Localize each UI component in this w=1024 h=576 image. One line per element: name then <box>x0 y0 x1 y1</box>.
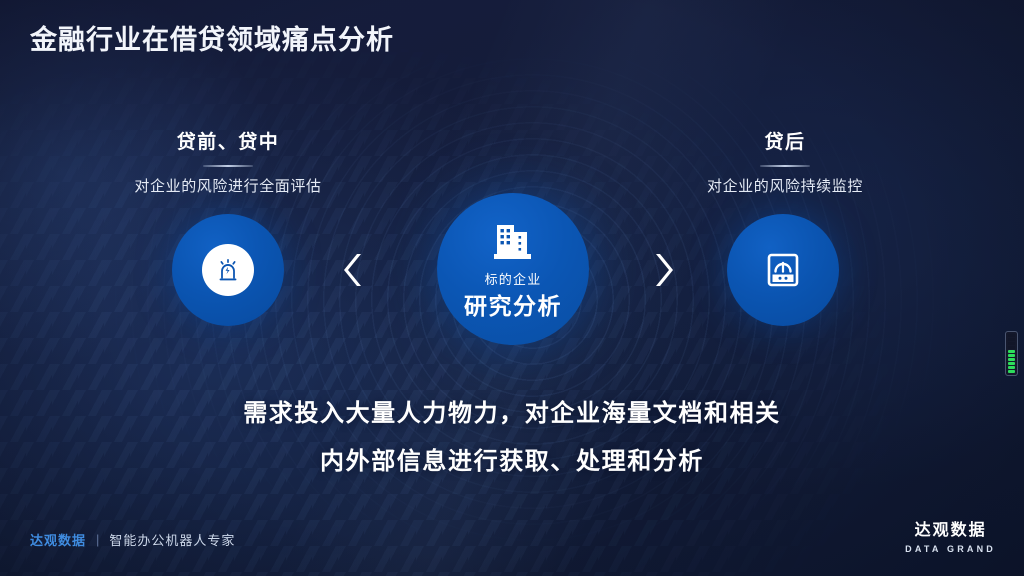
column-heading-left: 贷前、贷中 对企业的风险进行全面评估 <box>48 130 408 198</box>
level-meter-segment <box>1008 362 1015 365</box>
right-heading-title: 贷后 <box>605 130 965 156</box>
page-title: 金融行业在借贷领域痛点分析 <box>30 18 394 57</box>
level-meter[interactable] <box>1005 331 1018 376</box>
center-label-large: 研究分析 <box>464 290 562 322</box>
left-heading-divider <box>203 165 253 167</box>
footer-tagline: 智能办公机器人专家 <box>109 530 235 549</box>
node-circle-pre-loan[interactable] <box>172 214 284 326</box>
node-circle-target-company[interactable]: 标的企业 研究分析 <box>437 193 589 345</box>
office-building-icon <box>490 221 536 265</box>
chevron-left-icon <box>343 251 367 289</box>
footer-logo: 达观数据 DATA GRAND <box>905 521 996 556</box>
footer-logo-en: DATA GRAND <box>905 543 996 556</box>
level-meter-segment <box>1008 358 1015 361</box>
center-label-small: 标的企业 <box>485 271 542 289</box>
statement-line-1: 需求投入大量人力物力，对企业海量文档和相关 <box>0 390 1024 438</box>
left-heading-subtitle: 对企业的风险进行全面评估 <box>48 176 408 198</box>
level-meter-segment <box>1008 350 1015 353</box>
right-heading-divider <box>760 165 810 167</box>
level-meter-segment <box>1008 354 1015 357</box>
level-meter-segment <box>1008 334 1015 337</box>
footer-logo-cn: 达观数据 <box>905 521 996 541</box>
statement-line-2: 内外部信息进行获取、处理和分析 <box>0 438 1024 486</box>
alarm-siren-icon <box>213 255 243 285</box>
monitor-gauge-icon <box>762 249 804 291</box>
alarm-siren-icon-badge <box>202 244 254 296</box>
level-meter-segment <box>1008 338 1015 341</box>
column-heading-right: 贷后 对企业的风险持续监控 <box>605 130 965 198</box>
statement-block: 需求投入大量人力物力，对企业海量文档和相关 内外部信息进行获取、处理和分析 <box>0 390 1024 486</box>
chevron-left-icon-wrap <box>338 247 372 293</box>
level-meter-segment <box>1008 346 1015 349</box>
level-meter-segment <box>1008 366 1015 369</box>
slide-canvas: 金融行业在借贷领域痛点分析 贷前、贷中 对企业的风险进行全面评估 贷后 对企业的… <box>0 0 1024 576</box>
chevron-right-icon <box>650 251 674 289</box>
footer-separator: | <box>96 532 99 547</box>
chevron-right-icon-wrap <box>645 247 679 293</box>
node-circle-post-loan[interactable] <box>727 214 839 326</box>
level-meter-segment <box>1008 342 1015 345</box>
footer-brand: 达观数据 <box>30 530 86 549</box>
footer-left: 达观数据 | 智能办公机器人专家 <box>30 530 235 549</box>
right-heading-subtitle: 对企业的风险持续监控 <box>605 176 965 198</box>
left-heading-title: 贷前、贷中 <box>48 130 408 156</box>
level-meter-segment <box>1008 370 1015 373</box>
